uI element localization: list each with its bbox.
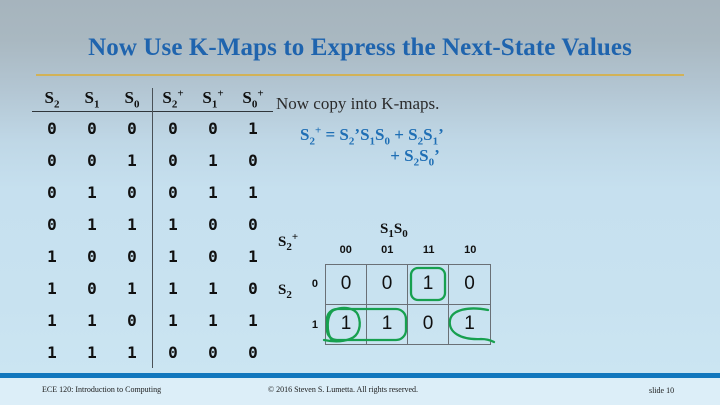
cell-s1-next: 1 xyxy=(193,144,233,176)
footer: ECE 120: Introduction to Computing © 201… xyxy=(0,378,720,405)
kmap-cell-r0c00: 0 xyxy=(326,265,367,305)
column-header-s0-next: S0+ xyxy=(233,88,273,112)
instruction-text: Now copy into K-maps. xyxy=(276,94,439,114)
table-row: 0 0 1 0 1 0 xyxy=(32,144,273,176)
cell-s2-next: 0 xyxy=(153,176,194,208)
truth-table: S2 S1 S0 S2+ S1+ S0+ 0 0 0 0 0 1 xyxy=(32,88,273,368)
cell-s1: 1 xyxy=(72,336,112,368)
cell-s0-next: 0 xyxy=(233,336,273,368)
table-row: 0 0 0 0 0 1 xyxy=(32,112,273,145)
kmap-column-variable-label: S1S0 xyxy=(380,221,408,238)
cell-s1-next: 1 xyxy=(193,272,233,304)
subscript-2: 2 xyxy=(286,289,292,301)
subscript-0: 0 xyxy=(134,98,140,110)
subscript-2: 2 xyxy=(172,98,178,110)
table-body: 0 0 0 0 0 1 0 0 1 0 1 0 0 1 xyxy=(32,112,273,369)
cell-s1: 1 xyxy=(72,304,112,336)
subscript-2: 2 xyxy=(414,156,420,168)
cell-s0: 0 xyxy=(112,176,153,208)
cell-s0: 1 xyxy=(112,336,153,368)
superscript-plus: + xyxy=(257,87,263,99)
subscript-2: 2 xyxy=(349,135,355,147)
equation-rhs-line2: + S2S0’ xyxy=(300,145,444,166)
title-divider-rule xyxy=(36,74,684,76)
kmap-col-header-11: 11 xyxy=(408,244,450,256)
kmap-cell-r0c10: 0 xyxy=(449,265,490,305)
cell-s2: 1 xyxy=(32,240,72,272)
column-header-s1: S1 xyxy=(72,88,112,112)
cell-s2-next: 1 xyxy=(153,304,194,336)
cell-s0-next: 1 xyxy=(233,304,273,336)
cell-s0-next: 1 xyxy=(233,240,273,272)
cell-s1-next: 0 xyxy=(193,240,233,272)
table-row: 1 0 1 1 1 0 xyxy=(32,272,273,304)
subscript-0: 0 xyxy=(385,135,391,147)
superscript-plus: + xyxy=(315,124,321,136)
subscript-2: 2 xyxy=(309,135,315,147)
cell-s1: 0 xyxy=(72,112,112,145)
table-row: 1 1 1 0 0 0 xyxy=(32,336,273,368)
column-header-s2: S2 xyxy=(32,88,72,112)
kmap-cell-r0c11: 1 xyxy=(408,265,449,305)
cell-s1: 0 xyxy=(72,144,112,176)
table-row: 0 1 0 0 1 1 xyxy=(32,176,273,208)
karnaugh-map: S2+ S1S0 S2 00 01 11 10 0 1 0 0 1 0 1 1 … xyxy=(276,222,526,352)
cell-s1-next: 1 xyxy=(193,304,233,336)
cell-s2-next: 0 xyxy=(153,336,194,368)
column-header-s2-next: S2+ xyxy=(153,88,194,112)
superscript-plus: + xyxy=(177,87,183,99)
kmap-row-header-1: 1 xyxy=(306,305,318,346)
cell-s2: 0 xyxy=(32,144,72,176)
subscript-0: 0 xyxy=(252,98,258,110)
cell-s0-next: 0 xyxy=(233,272,273,304)
cell-s2: 1 xyxy=(32,272,72,304)
cell-s0-next: 0 xyxy=(233,208,273,240)
equation-lhs: S2+ xyxy=(300,125,321,144)
cell-s0: 1 xyxy=(112,272,153,304)
kmap-row-header-0: 0 xyxy=(306,264,318,305)
subscript-1: 1 xyxy=(94,98,100,110)
table-row: 1 1 0 1 1 1 xyxy=(32,304,273,336)
cell-s0-next: 1 xyxy=(233,176,273,208)
column-header-s1-next: S1+ xyxy=(193,88,233,112)
cell-s2-next: 1 xyxy=(153,272,194,304)
kmap-cell-r1c01: 1 xyxy=(367,305,408,345)
kmap-cell-r1c10: 1 xyxy=(449,305,490,345)
kmap-col-header-10: 10 xyxy=(450,244,492,256)
kmap-cell-r1c00: 1 xyxy=(326,305,367,345)
cell-s1-next: 0 xyxy=(193,112,233,145)
equation-block: S2+ = S2’S1S0 + S2S1’ + S2S0’ xyxy=(300,124,444,166)
kmap-column-headers: 00 01 11 10 xyxy=(325,244,491,256)
cell-s0: 1 xyxy=(112,208,153,240)
column-header-s0: S0 xyxy=(112,88,153,112)
subscript-1: 1 xyxy=(370,135,376,147)
kmap-col-header-01: 01 xyxy=(367,244,409,256)
cell-s1: 1 xyxy=(72,176,112,208)
cell-s2: 0 xyxy=(32,176,72,208)
cell-s0: 0 xyxy=(112,240,153,272)
cell-s1: 0 xyxy=(72,240,112,272)
cell-s1: 0 xyxy=(72,272,112,304)
table-row: 0 1 1 1 0 0 xyxy=(32,208,273,240)
subscript-1: 1 xyxy=(212,98,218,110)
kmap-cell-r0c01: 0 xyxy=(367,265,408,305)
kmap-row-headers: 0 1 xyxy=(306,264,318,345)
cell-s0: 1 xyxy=(112,144,153,176)
page-title: Now Use K-Maps to Express the Next-State… xyxy=(0,34,720,62)
subscript-2: 2 xyxy=(54,98,60,110)
footer-course-name: ECE 120: Introduction to Computing xyxy=(42,385,161,394)
subscript-0: 0 xyxy=(429,156,435,168)
kmap-col-header-00: 00 xyxy=(325,244,367,256)
cell-s2: 0 xyxy=(32,208,72,240)
cell-s1-next: 0 xyxy=(193,336,233,368)
kmap-row-variable-label: S2 xyxy=(278,282,292,299)
cell-s2-next: 0 xyxy=(153,112,194,145)
kmap-cell-r1c11: 0 xyxy=(408,305,449,345)
superscript-plus: + xyxy=(217,87,223,99)
cell-s2-next: 1 xyxy=(153,240,194,272)
cell-s0: 0 xyxy=(112,304,153,336)
table-row: 1 0 0 1 0 1 xyxy=(32,240,273,272)
subscript-1: 1 xyxy=(388,228,394,240)
cell-s0-next: 1 xyxy=(233,112,273,145)
cell-s0: 0 xyxy=(112,112,153,145)
cell-s2: 1 xyxy=(32,304,72,336)
kmap-output-label: S2+ xyxy=(278,234,298,251)
slide-canvas: Now Use K-Maps to Express the Next-State… xyxy=(0,0,720,405)
footer-slide-number: slide 10 xyxy=(649,386,674,395)
cell-s0-next: 0 xyxy=(233,144,273,176)
cell-s2: 0 xyxy=(32,112,72,145)
subscript-0: 0 xyxy=(402,228,408,240)
cell-s2-next: 0 xyxy=(153,144,194,176)
superscript-plus: + xyxy=(292,231,298,243)
kmap-grid: 0 0 1 0 1 1 0 1 xyxy=(325,264,491,345)
cell-s1-next: 0 xyxy=(193,208,233,240)
cell-s2-next: 1 xyxy=(153,208,194,240)
footer-copyright: © 2016 Steven S. Lumetta. All rights res… xyxy=(268,385,418,394)
table-header-row: S2 S1 S0 S2+ S1+ S0+ xyxy=(32,88,273,112)
cell-s1-next: 1 xyxy=(193,176,233,208)
cell-s2: 1 xyxy=(32,336,72,368)
equation-rhs-line1: = S2’S1S0 + S2S1’ xyxy=(326,125,444,144)
cell-s1: 1 xyxy=(72,208,112,240)
